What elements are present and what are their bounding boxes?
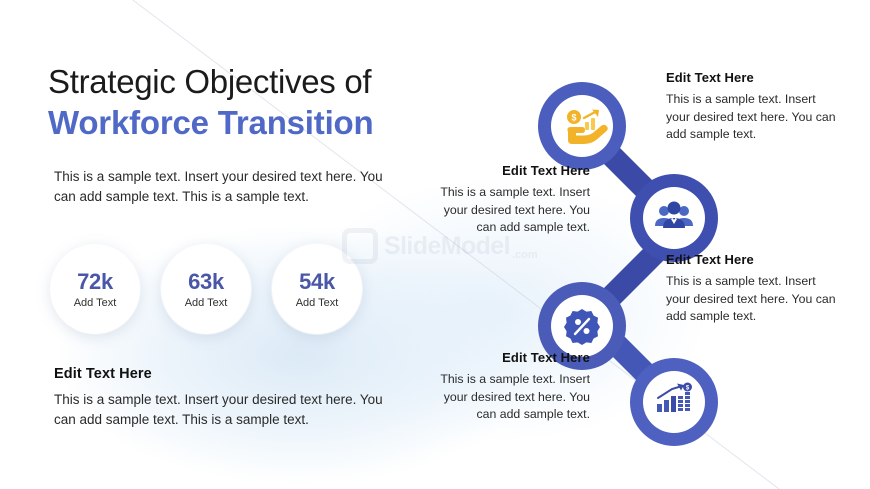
page-title: Strategic Objectives of Workforce Transi… (48, 62, 468, 144)
bottom-left-text-block: Edit Text Here This is a sample text. In… (54, 366, 404, 429)
stat-circle[interactable]: 63k Add Text (161, 244, 251, 334)
chain-heading-1: Edit Text Here (666, 70, 836, 85)
chain-body-1: This is a sample text. Insert your desir… (666, 91, 836, 144)
chain-node-1 (538, 82, 626, 170)
chain-body-3: This is a sample text. Insert your desir… (666, 273, 836, 326)
chain-heading-2: Edit Text Here (428, 163, 590, 178)
stat-value: 54k (299, 270, 335, 294)
chain-text-block-1: Edit Text Here This is a sample text. In… (666, 70, 836, 144)
stat-circle-group: 72k Add Text 63k Add Text 54k Add Text (50, 244, 362, 334)
stat-circle[interactable]: 72k Add Text (50, 244, 140, 334)
stat-value: 63k (188, 270, 224, 294)
bottom-left-heading: Edit Text Here (54, 366, 404, 382)
chain-text-block-2: Edit Text Here This is a sample text. In… (428, 163, 590, 237)
title-line-1: Strategic Objectives of (48, 62, 468, 102)
chain-body-4: This is a sample text. Insert your desir… (428, 371, 590, 424)
chain-body-2: This is a sample text. Insert your desir… (428, 184, 590, 237)
stat-label: Add Text (185, 297, 228, 309)
title-line-2: Workforce Transition (48, 102, 468, 144)
stat-value: 72k (77, 270, 113, 294)
chain-heading-3: Edit Text Here (666, 252, 836, 267)
stat-circle[interactable]: 54k Add Text (272, 244, 362, 334)
bottom-left-body: This is a sample text. Insert your desir… (54, 390, 404, 429)
chain-text-block-4: Edit Text Here This is a sample text. In… (428, 350, 590, 424)
chain-heading-4: Edit Text Here (428, 350, 590, 365)
chain-text-block-3: Edit Text Here This is a sample text. In… (666, 252, 836, 326)
stat-label: Add Text (296, 297, 339, 309)
slide-canvas: Strategic Objectives of Workforce Transi… (0, 0, 870, 489)
svg-text:$: $ (571, 112, 576, 122)
stat-label: Add Text (74, 297, 117, 309)
intro-paragraph: This is a sample text. Insert your desir… (54, 167, 394, 206)
